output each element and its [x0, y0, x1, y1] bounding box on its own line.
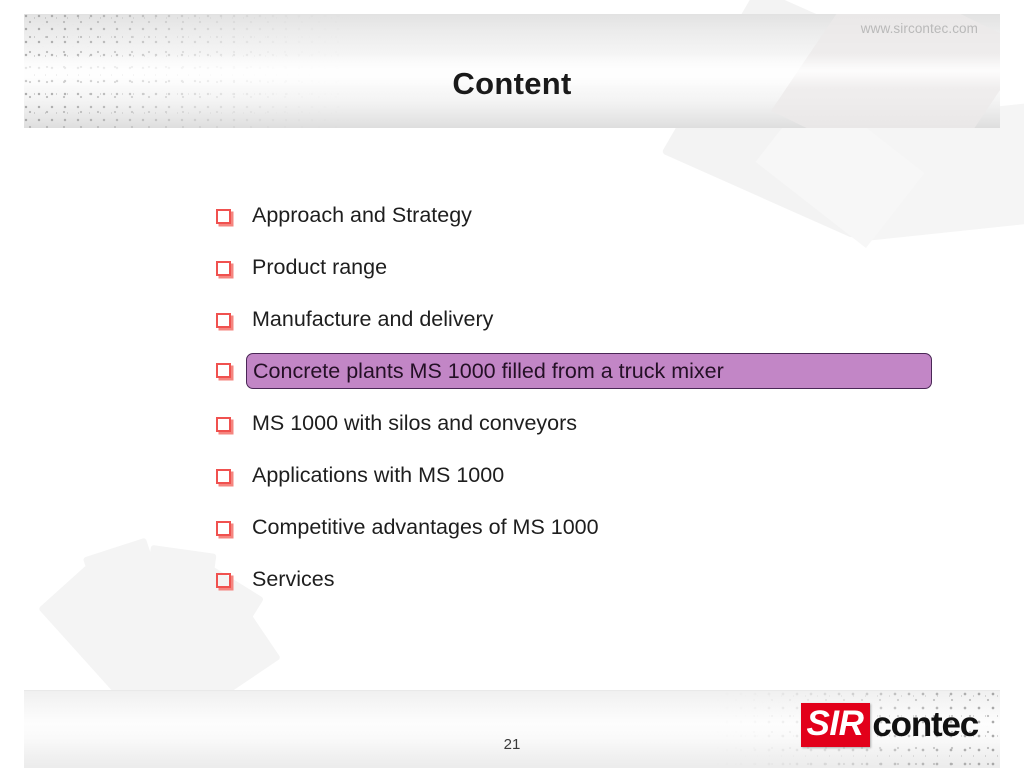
- list-item[interactable]: MS 1000 with silos and conveyors: [0, 404, 1024, 456]
- list-item-label: Applications with MS 1000: [252, 458, 504, 492]
- site-url-label: www.sircontec.com: [861, 21, 978, 36]
- list-item-highlighted[interactable]: Concrete plants MS 1000 filled from a tr…: [0, 352, 1024, 404]
- list-item-label: Concrete plants MS 1000 filled from a tr…: [253, 354, 724, 388]
- sircontec-logo: SIR contec: [801, 703, 978, 747]
- square-outline-bullet-icon: [216, 363, 231, 378]
- list-item[interactable]: Services: [0, 560, 1024, 612]
- list-item-label: Product range: [252, 250, 387, 284]
- list-item-label: Competitive advantages of MS 1000: [252, 510, 599, 544]
- list-item-label: Manufacture and delivery: [252, 302, 493, 336]
- list-item[interactable]: Product range: [0, 248, 1024, 300]
- list-item[interactable]: Applications with MS 1000: [0, 456, 1024, 508]
- slide: www.sircontec.com Content Approach and S…: [0, 0, 1024, 768]
- square-outline-bullet-icon: [216, 573, 231, 588]
- slide-footer-band: 21 SIR contec: [24, 690, 1000, 768]
- slide-header-band: www.sircontec.com Content: [24, 14, 1000, 128]
- logo-word-contec: contec: [872, 705, 978, 745]
- list-item[interactable]: Manufacture and delivery: [0, 300, 1024, 352]
- content-bullet-list: Approach and Strategy Product range Manu…: [0, 196, 1024, 612]
- list-item-label: MS 1000 with silos and conveyors: [252, 406, 577, 440]
- square-outline-bullet-icon: [216, 469, 231, 484]
- square-outline-bullet-icon: [216, 521, 231, 536]
- list-item-label: Services: [252, 562, 334, 596]
- list-item[interactable]: Competitive advantages of MS 1000: [0, 508, 1024, 560]
- page-title: Content: [24, 66, 1000, 102]
- square-outline-bullet-icon: [216, 313, 231, 328]
- logo-mark-sir: SIR: [801, 703, 871, 747]
- square-outline-bullet-icon: [216, 209, 231, 224]
- list-item[interactable]: Approach and Strategy: [0, 196, 1024, 248]
- square-outline-bullet-icon: [216, 417, 231, 432]
- list-item-label: Approach and Strategy: [252, 198, 472, 232]
- square-outline-bullet-icon: [216, 261, 231, 276]
